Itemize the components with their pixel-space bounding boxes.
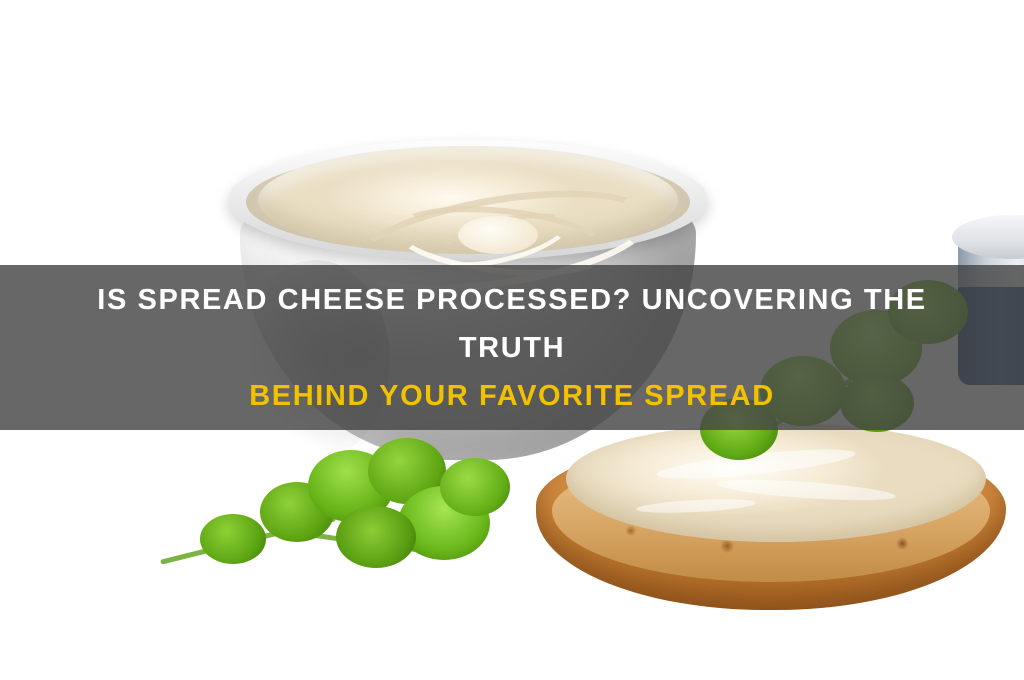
cheese-peak bbox=[458, 216, 538, 254]
banner-title: IS SPREAD CHEESE PROCESSED? UNCOVERING T… bbox=[62, 276, 962, 420]
image-canvas: IS SPREAD CHEESE PROCESSED? UNCOVERING T… bbox=[0, 0, 1024, 680]
title-banner: IS SPREAD CHEESE PROCESSED? UNCOVERING T… bbox=[0, 265, 1024, 430]
banner-title-line-2: BEHIND YOUR FAVORITE SPREAD bbox=[62, 372, 962, 420]
parsley-leaf bbox=[336, 506, 416, 568]
spread-swipe bbox=[636, 497, 756, 515]
parsley-leaf bbox=[200, 514, 266, 564]
parsley-leaf bbox=[440, 458, 510, 516]
banner-title-line-1: IS SPREAD CHEESE PROCESSED? UNCOVERING T… bbox=[62, 276, 962, 372]
cream-cheese-surface bbox=[258, 146, 678, 254]
parsley-sprig-left bbox=[140, 430, 540, 620]
